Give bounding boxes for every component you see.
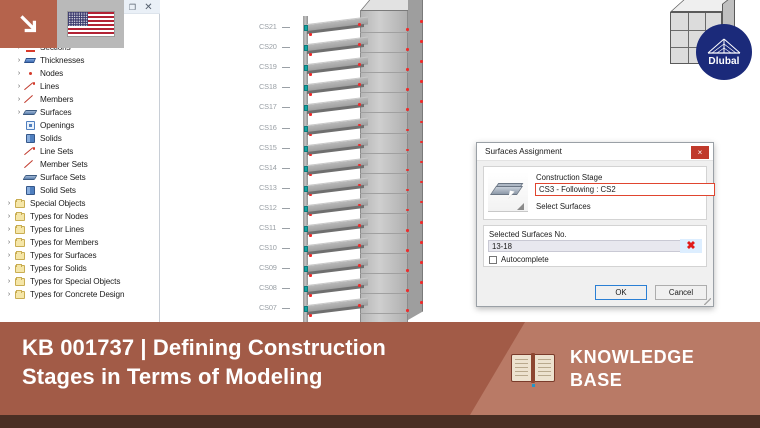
label-leader-line xyxy=(282,188,290,189)
clear-selection-icon[interactable]: ✖ xyxy=(680,239,702,253)
object-tree[interactable]: ›Base Objects›Materials›Sections›Thickne… xyxy=(0,15,159,322)
support-node xyxy=(304,65,308,71)
book-icon xyxy=(510,352,556,386)
construction-stage-select[interactable]: CS3 - Following : CS2 xyxy=(535,183,715,196)
chevron-right-icon[interactable]: › xyxy=(4,213,14,220)
model-node xyxy=(309,174,312,177)
tower-story-line xyxy=(360,253,408,254)
model-node xyxy=(406,309,409,312)
model-node xyxy=(420,281,423,284)
construction-stage-label: CS17 xyxy=(259,102,277,111)
flag-stars xyxy=(68,12,88,26)
dlubal-truss-icon xyxy=(707,38,741,55)
tower-story-line xyxy=(360,133,408,134)
thumbnail-plate xyxy=(490,186,523,195)
chevron-right-icon[interactable]: › xyxy=(4,226,14,233)
tree-item-types-for-concrete-design[interactable]: ›Types for Concrete Design xyxy=(0,288,159,301)
tree-item-label: Lines xyxy=(40,82,59,91)
folder-icon xyxy=(14,224,27,235)
solid-sets-icon xyxy=(24,185,37,196)
model-node xyxy=(358,144,361,147)
tree-item-label: Surfaces xyxy=(40,108,72,117)
dialog-buttons: OK Cancel xyxy=(595,285,707,300)
model-node xyxy=(406,269,409,272)
label-leader-line xyxy=(282,47,290,48)
close-icon[interactable]: ✕ xyxy=(143,2,154,13)
folder-icon xyxy=(14,211,27,222)
label-leader-line xyxy=(282,308,290,309)
tree-item-label: Types for Concrete Design xyxy=(30,290,124,299)
model-node xyxy=(309,33,312,36)
model-node xyxy=(420,141,423,144)
model-node xyxy=(406,249,409,252)
chevron-right-icon[interactable]: › xyxy=(14,83,24,90)
line-sets-icon xyxy=(24,146,37,157)
model-node xyxy=(420,221,423,224)
tree-item-types-for-special-objects[interactable]: ›Types for Special Objects xyxy=(0,275,159,288)
chevron-right-icon[interactable]: › xyxy=(4,278,14,285)
undock-icon[interactable]: ❐ xyxy=(127,2,138,13)
tree-item-label: Line Sets xyxy=(40,147,73,156)
dialog-resize-grip[interactable] xyxy=(704,298,711,305)
selected-surfaces-input[interactable]: 13-18 xyxy=(488,240,684,252)
selected-surfaces-group: Selected Surfaces No. 13-18 ✖ Autocomple… xyxy=(483,225,707,267)
model-node xyxy=(358,43,361,46)
folder-icon xyxy=(14,198,27,209)
application-screenshot: CS21CS20CS19CS18CS17CS16CS15CS14CS13CS12… xyxy=(0,0,760,322)
model-node xyxy=(406,108,409,111)
support-node xyxy=(304,25,308,31)
model-node xyxy=(420,40,423,43)
chevron-right-icon[interactable]: › xyxy=(4,291,14,298)
model-node xyxy=(358,184,361,187)
tower-story-line xyxy=(360,92,408,93)
model-node xyxy=(406,169,409,172)
tower-story-line xyxy=(360,52,408,53)
chevron-right-icon[interactable]: › xyxy=(14,57,24,64)
tree-item-label: Types for Solids xyxy=(30,264,87,273)
dialog-close-button[interactable]: × xyxy=(691,146,709,159)
label-leader-line xyxy=(282,148,290,149)
dlubal-wordmark: Dlubal xyxy=(708,56,739,67)
tower-story-line xyxy=(360,293,408,294)
knowledge-base-text: KNOWLEDGE BASE xyxy=(570,346,694,392)
construction-stage-label: CS12 xyxy=(259,203,277,212)
tree-item-label: Types for Special Objects xyxy=(30,277,120,286)
support-node xyxy=(304,246,308,252)
model-node xyxy=(358,224,361,227)
tree-item-label: Solid Sets xyxy=(40,186,76,195)
model-node xyxy=(309,154,312,157)
screenshot-root: CS21CS20CS19CS18CS17CS16CS15CS14CS13CS12… xyxy=(0,0,760,428)
tree-item-thicknesses[interactable]: ›Thicknesses xyxy=(0,54,159,67)
construction-stage-label: CS21 xyxy=(259,22,277,31)
surface-thumbnail xyxy=(488,172,528,212)
model-node xyxy=(309,134,312,137)
tree-item-label: Nodes xyxy=(40,69,63,78)
banner-footer-strip xyxy=(0,415,760,428)
model-node xyxy=(406,48,409,51)
tree-item-types-for-nodes[interactable]: ›Types for Nodes xyxy=(0,210,159,223)
model-node xyxy=(406,28,409,31)
title-banner: KB 001737 | Defining Construction Stages… xyxy=(0,322,760,428)
flag-overlay xyxy=(57,0,124,48)
label-leader-line xyxy=(282,248,290,249)
tree-item-member-sets[interactable]: Member Sets xyxy=(0,158,159,171)
construction-stage-label: CS10 xyxy=(259,243,277,252)
tree-item-types-for-lines[interactable]: ›Types for Lines xyxy=(0,223,159,236)
construction-stage-label: CS20 xyxy=(259,42,277,51)
cursor-icon xyxy=(508,191,515,200)
model-node xyxy=(406,229,409,232)
construction-stage-label: CS11 xyxy=(259,223,276,232)
model-node xyxy=(420,100,423,103)
model-node xyxy=(309,274,312,277)
construction-stage-label: CS08 xyxy=(259,283,277,292)
tree-item-types-for-members[interactable]: ›Types for Members xyxy=(0,236,159,249)
banner-title-line1: KB 001737 | Defining Construction xyxy=(22,333,482,362)
tree-item-label: Thicknesses xyxy=(40,56,84,65)
surface-sets-icon xyxy=(24,172,37,183)
dlubal-badge: Dlubal xyxy=(696,24,752,80)
model-node xyxy=(420,80,423,83)
construction-stage-label: CS14 xyxy=(259,163,277,172)
tree-item-surface-sets[interactable]: Surface Sets xyxy=(0,171,159,184)
model-node xyxy=(358,284,361,287)
navigator-panel: ❐ ✕ ›Base Objects›Materials›Sections›Thi… xyxy=(0,0,160,322)
book-left-page xyxy=(511,354,532,382)
tree-item-label: Openings xyxy=(40,121,74,130)
tree-item-nodes[interactable]: ›Nodes xyxy=(0,67,159,80)
arrow-down-right-icon xyxy=(16,11,42,37)
model-node xyxy=(358,23,361,26)
label-leader-line xyxy=(282,67,290,68)
openings-icon xyxy=(24,120,37,131)
folder-icon xyxy=(14,289,27,300)
model-node xyxy=(309,53,312,56)
construction-stage-label: Construction Stage xyxy=(536,173,602,182)
tree-item-label: Types for Lines xyxy=(30,225,84,234)
autocomplete-checkbox[interactable] xyxy=(489,256,497,264)
folder-icon xyxy=(14,250,27,261)
tree-item-solid-sets[interactable]: Solid Sets xyxy=(0,184,159,197)
model-node xyxy=(358,63,361,66)
model-node xyxy=(420,121,423,124)
tree-item-openings[interactable]: Openings xyxy=(0,119,159,132)
model-node xyxy=(358,164,361,167)
chevron-right-icon[interactable]: › xyxy=(14,96,24,103)
model-node xyxy=(309,234,312,237)
construction-stage-group: Construction Stage CS3 - Following : CS2… xyxy=(483,166,707,220)
tree-item-types-for-solids[interactable]: ›Types for Solids xyxy=(0,262,159,275)
tower-story-line xyxy=(360,313,408,314)
label-leader-line xyxy=(282,228,290,229)
model-node xyxy=(420,301,423,304)
construction-stage-label: CS19 xyxy=(259,62,277,71)
tree-item-label: Types for Nodes xyxy=(30,212,88,221)
label-leader-line xyxy=(282,268,290,269)
thicknesses-icon xyxy=(24,55,37,66)
model-node xyxy=(309,113,312,116)
tower-story-line xyxy=(360,32,408,33)
model-node xyxy=(358,304,361,307)
chevron-right-icon[interactable]: › xyxy=(14,70,24,77)
select-surfaces-button[interactable]: Select Surfaces xyxy=(536,202,591,211)
banner-title-line2: Stages in Terms of Modeling xyxy=(22,362,482,391)
support-node xyxy=(304,105,308,111)
kb-line2: BASE xyxy=(570,369,694,392)
tree-item-label: Types for Members xyxy=(30,238,98,247)
model-node xyxy=(406,88,409,91)
model-node xyxy=(406,68,409,71)
tree-item-label: Surface Sets xyxy=(40,173,86,182)
tower-story-line xyxy=(360,153,408,154)
support-node xyxy=(304,85,308,91)
model-node xyxy=(358,83,361,86)
solids-icon xyxy=(24,133,37,144)
chevron-right-icon[interactable]: › xyxy=(4,239,14,246)
nodes-icon xyxy=(24,68,37,79)
tree-item-label: Special Objects xyxy=(30,199,85,208)
label-leader-line xyxy=(282,107,290,108)
tower-story-line xyxy=(360,72,408,73)
tower-story-line xyxy=(360,273,408,274)
autocomplete-label: Autocomplete xyxy=(501,255,549,264)
tower-story-line xyxy=(360,193,408,194)
model-node xyxy=(309,194,312,197)
members-icon xyxy=(24,94,37,105)
construction-stage-label: CS15 xyxy=(259,143,277,152)
model-node xyxy=(358,103,361,106)
support-node xyxy=(304,166,308,172)
support-node xyxy=(304,226,308,232)
tower-story-line xyxy=(360,213,408,214)
model-node xyxy=(420,181,423,184)
model-node xyxy=(358,244,361,247)
tree-item-label: Solids xyxy=(40,134,62,143)
tree-item-label: Types for Surfaces xyxy=(30,251,96,260)
support-node xyxy=(304,286,308,292)
model-node xyxy=(420,241,423,244)
tree-item-label: Member Sets xyxy=(40,160,88,169)
model-node xyxy=(406,189,409,192)
lines-icon xyxy=(24,81,37,92)
folder-icon xyxy=(14,237,27,248)
model-node xyxy=(420,161,423,164)
construction-stage-label: CS18 xyxy=(259,82,277,91)
selected-surfaces-label: Selected Surfaces No. xyxy=(489,230,567,239)
label-leader-line xyxy=(282,168,290,169)
support-node xyxy=(304,206,308,212)
tree-item-lines[interactable]: ›Lines xyxy=(0,80,159,93)
knowledge-base-block: KNOWLEDGE BASE xyxy=(510,346,694,392)
kb-line1: KNOWLEDGE xyxy=(570,346,694,369)
tower-story-line xyxy=(360,173,408,174)
model-node xyxy=(406,289,409,292)
model-node xyxy=(406,129,409,132)
chevron-right-icon[interactable]: › xyxy=(4,200,14,207)
dialog-title: Surfaces Assignment xyxy=(485,147,562,156)
thumbnail-corner xyxy=(517,203,524,210)
folder-icon xyxy=(14,263,27,274)
label-leader-line xyxy=(282,27,290,28)
ok-button[interactable]: OK xyxy=(595,285,647,300)
support-node xyxy=(304,266,308,272)
tree-item-types-for-surfaces[interactable]: ›Types for Surfaces xyxy=(0,249,159,262)
surfaces-icon xyxy=(24,107,37,118)
cancel-button[interactable]: Cancel xyxy=(655,285,707,300)
model-node xyxy=(420,20,423,23)
model-node xyxy=(420,60,423,63)
model-node xyxy=(358,124,361,127)
dialog-titlebar[interactable]: Surfaces Assignment × xyxy=(477,143,713,161)
model-node xyxy=(358,264,361,267)
support-node xyxy=(304,306,308,312)
label-leader-line xyxy=(282,208,290,209)
model-node xyxy=(309,254,312,257)
chevron-right-icon[interactable]: › xyxy=(4,252,14,259)
tree-item-special-objects[interactable]: ›Special Objects xyxy=(0,197,159,210)
support-node xyxy=(304,45,308,51)
model-node xyxy=(309,294,312,297)
construction-stage-label: CS16 xyxy=(259,123,277,132)
model-node xyxy=(309,93,312,96)
model-node xyxy=(309,314,312,317)
book-spine xyxy=(531,353,535,383)
tree-item-surfaces[interactable]: ›Surfaces xyxy=(0,106,159,119)
model-node xyxy=(309,214,312,217)
support-node xyxy=(304,146,308,152)
book-bookmark xyxy=(532,384,535,387)
autocomplete-row[interactable]: Autocomplete xyxy=(489,255,549,264)
tree-item-line-sets[interactable]: Line Sets xyxy=(0,145,159,158)
us-flag-icon xyxy=(67,11,115,37)
label-leader-line xyxy=(282,87,290,88)
label-leader-line xyxy=(282,288,290,289)
model-node xyxy=(406,149,409,152)
tree-item-solids[interactable]: Solids xyxy=(0,132,159,145)
support-node xyxy=(304,126,308,132)
member-sets-icon xyxy=(24,159,37,170)
construction-stage-label: CS09 xyxy=(259,263,277,272)
construction-stage-label: CS13 xyxy=(259,183,277,192)
tree-item-members[interactable]: ›Members xyxy=(0,93,159,106)
book-right-page xyxy=(534,354,555,382)
chevron-right-icon[interactable]: › xyxy=(4,265,14,272)
dlubal-logo: Dlubal xyxy=(666,6,752,84)
tree-item-label: Members xyxy=(40,95,73,104)
folder-icon xyxy=(14,276,27,287)
construction-stage-label: CS07 xyxy=(259,303,277,312)
banner-title: KB 001737 | Defining Construction Stages… xyxy=(22,333,482,391)
tower-story-line xyxy=(360,112,408,113)
label-leader-line xyxy=(282,128,290,129)
model-node xyxy=(309,73,312,76)
tower-story-line xyxy=(360,233,408,234)
surfaces-assignment-dialog[interactable]: Surfaces Assignment × Construction Stage… xyxy=(476,142,714,307)
support-node xyxy=(304,186,308,192)
arrow-overlay xyxy=(0,0,57,48)
model-node xyxy=(420,261,423,264)
